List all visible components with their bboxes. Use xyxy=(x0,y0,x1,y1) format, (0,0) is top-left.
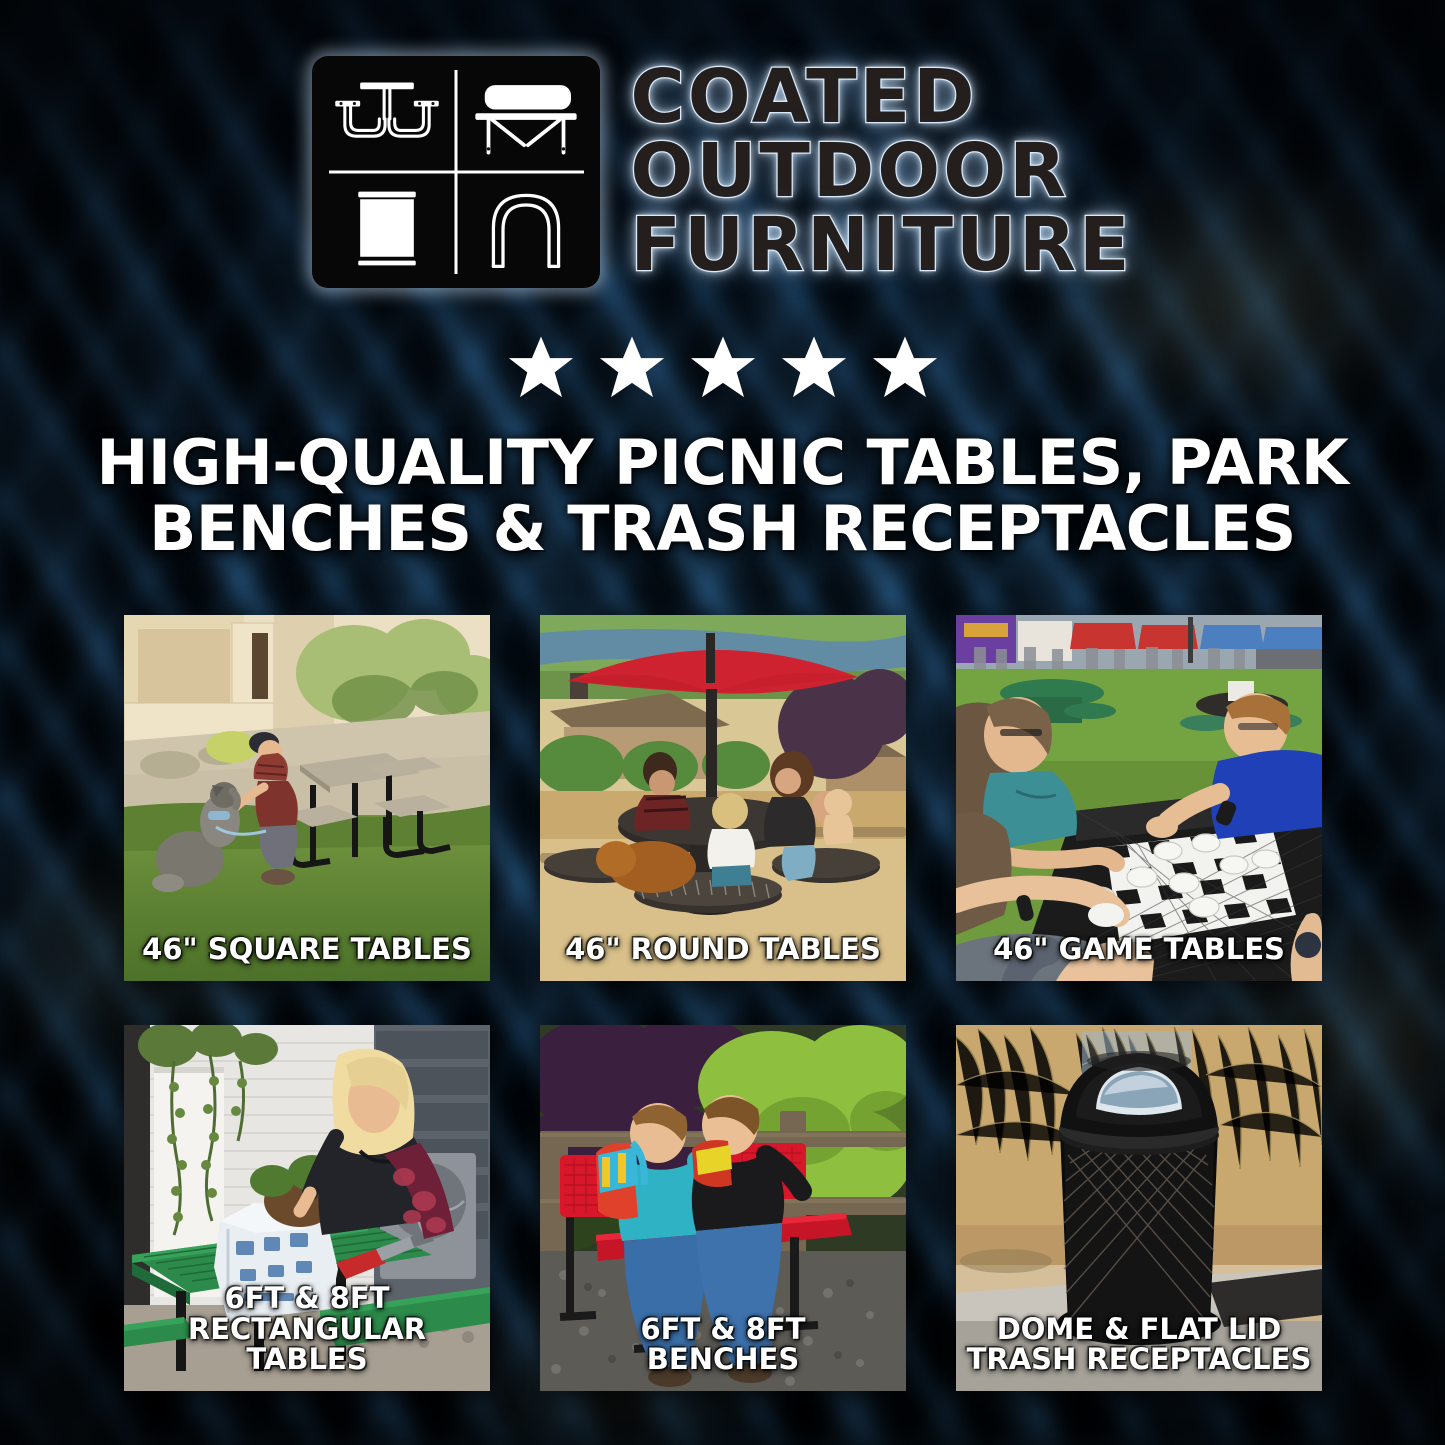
trash-receptacle-icon xyxy=(317,172,456,283)
caption-line-2: TRASH RECEPTACLES xyxy=(962,1344,1316,1375)
bike-rack-arch-icon xyxy=(456,172,595,283)
product-grid: 46" SQUARE TABLES xyxy=(124,615,1322,1391)
caption-line-1: DOME & FLAT LID xyxy=(962,1314,1316,1345)
product-tile-game-tables[interactable]: 46" GAME TABLES xyxy=(956,615,1322,981)
star-icon xyxy=(504,333,578,403)
caption-line-1: 46" GAME TABLES xyxy=(962,934,1316,965)
headline-line-1: HIGH-QUALITY PICNIC TABLES, PARK xyxy=(50,430,1395,496)
caption-line-2: BENCHES xyxy=(546,1344,900,1375)
tile-caption: 46" SQUARE TABLES xyxy=(130,934,484,965)
product-tile-benches[interactable]: 6FT & 8FT BENCHES xyxy=(540,1025,906,1391)
brand-wordmark: COATED OUTDOOR FURNITURE xyxy=(630,62,1132,281)
tile-caption: 46" GAME TABLES xyxy=(962,934,1316,965)
logo-mark xyxy=(312,56,600,288)
logo-word-coated: COATED xyxy=(630,62,977,134)
bench-side-icon xyxy=(456,61,595,172)
logo-word-outdoor: OUTDOOR xyxy=(630,136,1069,208)
tile-caption: 6FT & 8FT BENCHES xyxy=(546,1314,900,1375)
tile-caption: DOME & FLAT LID TRASH RECEPTACLES xyxy=(962,1314,1316,1375)
star-icon xyxy=(777,333,851,403)
headline: HIGH-QUALITY PICNIC TABLES, PARK BENCHES… xyxy=(50,430,1395,561)
star-rating xyxy=(0,333,1445,403)
caption-line-1: 46" ROUND TABLES xyxy=(546,934,900,965)
caption-line-1: 6FT & 8FT xyxy=(130,1283,484,1314)
tile-caption: 6FT & 8FT RECTANGULAR TABLES xyxy=(130,1283,484,1375)
product-tile-square-tables[interactable]: 46" SQUARE TABLES xyxy=(124,615,490,981)
caption-line-2: RECTANGULAR TABLES xyxy=(130,1314,484,1375)
promotional-poster: COATED OUTDOOR FURNITURE HIGH-QUALITY PI… xyxy=(0,0,1445,1445)
headline-line-2: BENCHES & TRASH RECEPTACLES xyxy=(50,496,1395,562)
product-tile-rectangular-tables[interactable]: 6FT & 8FT RECTANGULAR TABLES xyxy=(124,1025,490,1391)
product-tile-trash-receptacles[interactable]: DOME & FLAT LID TRASH RECEPTACLES xyxy=(956,1025,1322,1391)
scene-round-tables xyxy=(540,615,906,981)
product-tile-round-tables[interactable]: 46" ROUND TABLES xyxy=(540,615,906,981)
caption-line-1: 46" SQUARE TABLES xyxy=(130,934,484,965)
picnic-table-icon xyxy=(317,61,456,172)
caption-line-1: 6FT & 8FT xyxy=(546,1314,900,1345)
star-icon xyxy=(868,333,942,403)
tile-caption: 46" ROUND TABLES xyxy=(546,934,900,965)
scene-game-tables xyxy=(956,615,1322,981)
star-icon xyxy=(686,333,760,403)
brand-header: COATED OUTDOOR FURNITURE xyxy=(0,56,1445,288)
scene-square-tables xyxy=(124,615,490,981)
logo-word-furniture: FURNITURE xyxy=(630,210,1132,282)
star-icon xyxy=(595,333,669,403)
